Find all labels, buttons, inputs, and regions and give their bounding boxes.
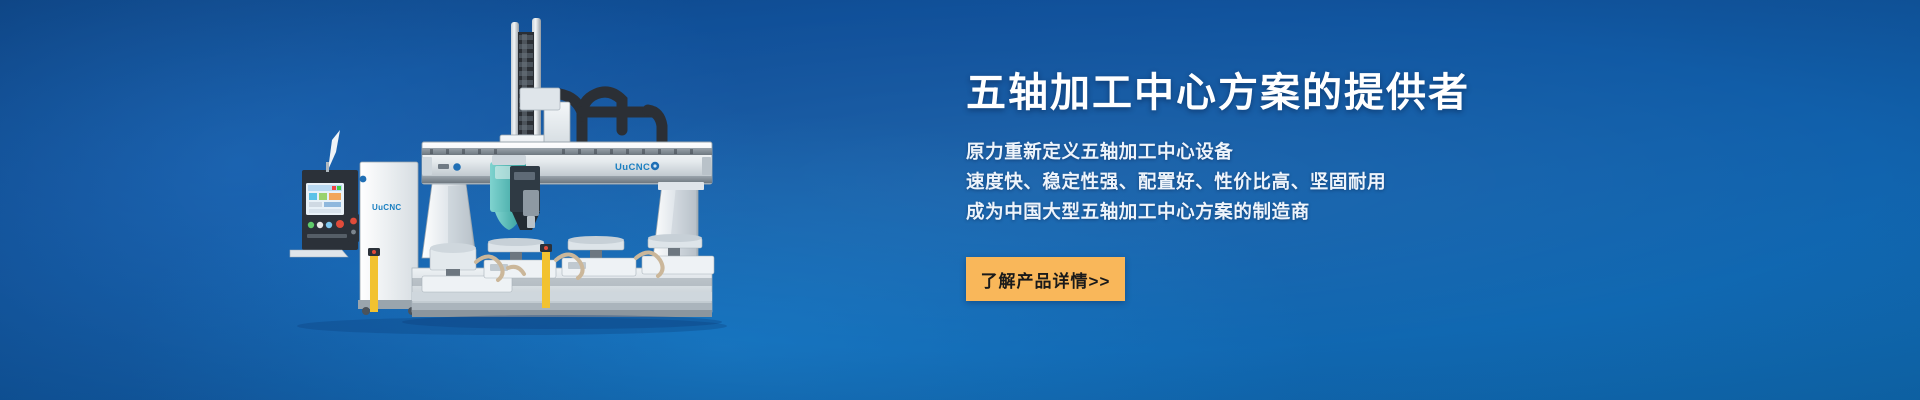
spindle-head [490, 155, 540, 230]
banner-subtitle-list: 原力重新定义五轴加工中心设备 速度快、稳定性强、配置好、性价比高、坚固耐用 成为… [966, 137, 1726, 227]
cnc-machine-photo: UuCNC [262, 10, 732, 355]
banner-subtitle-line-3: 成为中国大型五轴加工中心方案的制造商 [966, 197, 1726, 227]
machine-bed [368, 234, 722, 329]
cabinet-brand-logo: UuCNC [372, 203, 402, 212]
banner-headline: 五轴加工中心方案的提供者 [966, 70, 1726, 117]
banner-subtitle-line-2: 速度快、稳定性强、配置好、性价比高、坚固耐用 [966, 167, 1726, 197]
operator-control-cabinet: UuCNC [290, 130, 420, 315]
banner-copy: 五轴加工中心方案的提供者 原力重新定义五轴加工中心设备 速度快、稳定性强、配置好… [966, 70, 1726, 301]
banner-subtitle-line-1: 原力重新定义五轴加工中心设备 [966, 137, 1726, 167]
hero-banner: UuCNC [0, 0, 1920, 400]
learn-more-button[interactable]: 了解产品详情>> [966, 257, 1125, 301]
gantry-brand-logo: UuCNC [615, 162, 650, 173]
